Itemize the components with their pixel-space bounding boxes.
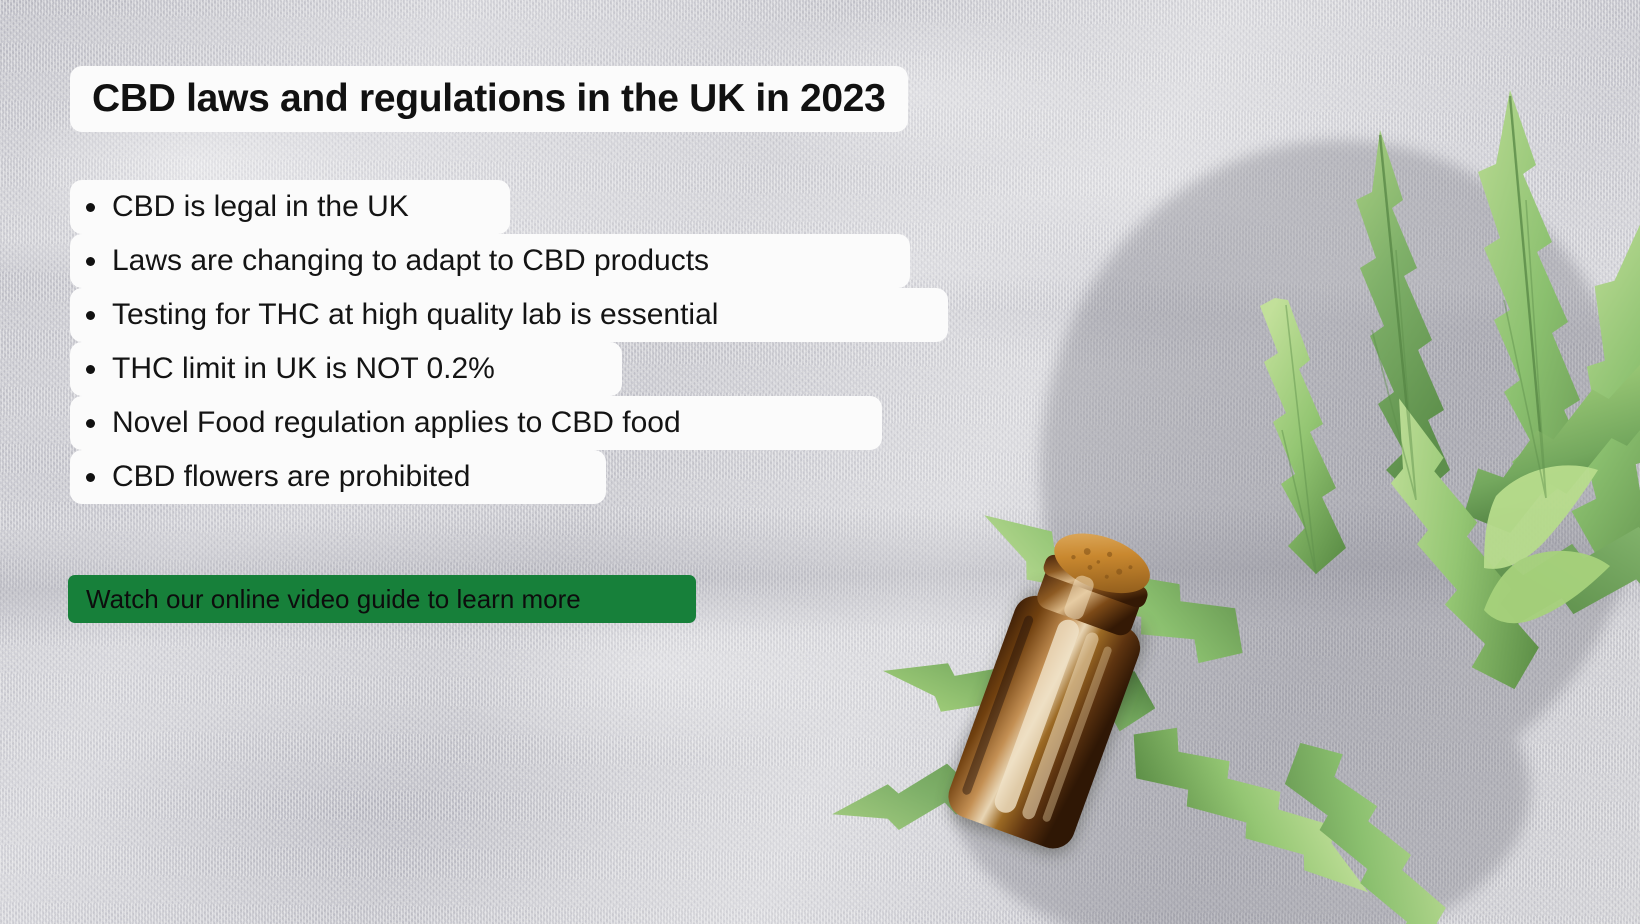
list-item-pill: Testing for THC at high quality lab is e…: [70, 288, 948, 342]
list-item: CBD is legal in the UK: [70, 180, 970, 234]
list-item-pill: Laws are changing to adapt to CBD produc…: [70, 234, 910, 288]
bullet-dot-icon: [86, 311, 95, 320]
list-item: CBD flowers are prohibited: [70, 450, 970, 504]
list-item-pill: Novel Food regulation applies to CBD foo…: [70, 396, 882, 450]
bullet-dot-icon: [86, 257, 95, 266]
list-item-label: THC limit in UK is NOT 0.2%: [112, 354, 495, 384]
watch-video-guide-button[interactable]: Watch our online video guide to learn mo…: [68, 575, 696, 623]
page-title-box: CBD laws and regulations in the UK in 20…: [70, 66, 908, 132]
text-overlay: CBD laws and regulations in the UK in 20…: [0, 0, 1640, 924]
list-item-label: Laws are changing to adapt to CBD produc…: [112, 246, 709, 276]
list-item: Laws are changing to adapt to CBD produc…: [70, 234, 970, 288]
list-item-label: Testing for THC at high quality lab is e…: [112, 300, 718, 330]
list-item-pill: THC limit in UK is NOT 0.2%: [70, 342, 622, 396]
bullet-dot-icon: [86, 203, 95, 212]
list-item-pill: CBD is legal in the UK: [70, 180, 510, 234]
list-item-label: Novel Food regulation applies to CBD foo…: [112, 408, 681, 438]
list-item-pill: CBD flowers are prohibited: [70, 450, 606, 504]
key-points-list: CBD is legal in the UK Laws are changing…: [70, 180, 970, 504]
list-item-label: CBD flowers are prohibited: [112, 462, 471, 492]
list-item: THC limit in UK is NOT 0.2%: [70, 342, 970, 396]
watch-video-guide-label: Watch our online video guide to learn mo…: [86, 584, 581, 615]
bullet-dot-icon: [86, 473, 95, 482]
list-item: Novel Food regulation applies to CBD foo…: [70, 396, 970, 450]
bullet-dot-icon: [86, 419, 95, 428]
list-item-label: CBD is legal in the UK: [112, 192, 409, 222]
bullet-dot-icon: [86, 365, 95, 374]
infographic-canvas: CBD laws and regulations in the UK in 20…: [0, 0, 1640, 924]
page-title: CBD laws and regulations in the UK in 20…: [92, 77, 886, 121]
list-item: Testing for THC at high quality lab is e…: [70, 288, 970, 342]
